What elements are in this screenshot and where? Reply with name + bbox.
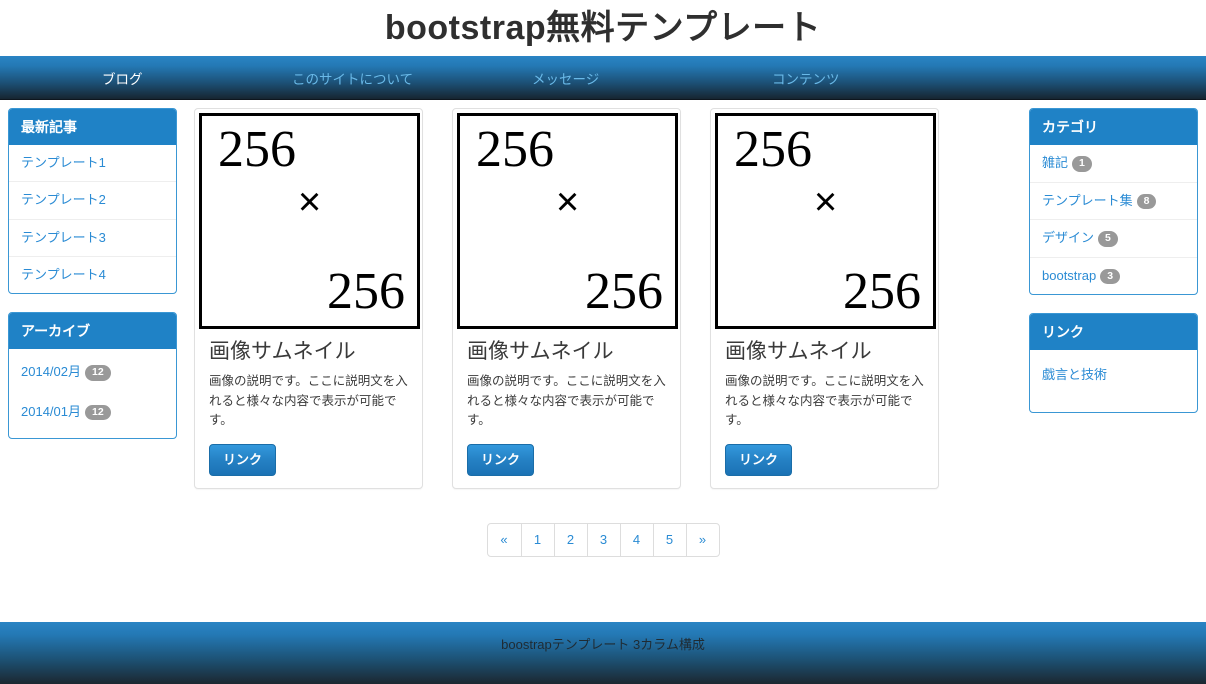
archive-item-2014-01[interactable]: 2014/01月12 [9,393,176,433]
placeholder-width-label: 256 [218,124,296,176]
pagination-page-4[interactable]: 4 [620,524,653,556]
card-title: 画像サムネイル [725,339,924,364]
panel-recent-posts: 最新記事 テンプレート1 テンプレート2 テンプレート3 テンプレート4 [8,108,177,294]
placeholder-height-label: 256 [327,266,405,318]
pagination: « 1 2 3 4 5 » [487,523,720,557]
nav-item-blog[interactable]: ブログ [98,72,147,87]
sidebar-item-template3[interactable]: テンプレート3 [9,219,176,256]
pagination-page-1[interactable]: 1 [521,524,554,556]
links-list: 戯言と技術 [1030,350,1197,411]
sidebar-item-template4[interactable]: テンプレート4 [9,256,176,293]
category-item-templates[interactable]: テンプレート集8 [1030,182,1197,220]
archive-item-2014-02[interactable]: 2014/02月12 [9,353,176,393]
panel-archive: アーカイブ 2014/02月12 2014/01月12 [8,312,177,439]
placeholder-image: 256 × 256 [715,113,936,329]
category-item-zakki[interactable]: 雑記1 [1030,145,1197,182]
card-body: 画像サムネイル 画像の説明です。ここに説明文を入れると様々な内容で表示が可能です… [457,329,676,478]
nav-item-about[interactable]: このサイトについて [288,72,417,87]
archive-item-badge: 12 [85,365,111,381]
pagination-page-2[interactable]: 2 [554,524,587,556]
pagination-next[interactable]: » [686,524,719,556]
multiply-icon: × [202,180,417,225]
content-column: 256 × 256 画像サムネイル 画像の説明です。ここに説明文を入れると様々な… [177,108,1029,557]
pagination-page-3[interactable]: 3 [587,524,620,556]
archive-item-label: 2014/01月 [21,404,81,419]
nav-slot-about: このサイトについて [288,68,528,89]
placeholder-image: 256 × 256 [199,113,420,329]
card-title: 画像サムネイル [467,339,666,364]
card-link-button[interactable]: リンク [209,444,276,476]
thumbnail-card[interactable]: 256 × 256 画像サムネイル 画像の説明です。ここに説明文を入れると様々な… [194,108,423,489]
card-body: 画像サムネイル 画像の説明です。ここに説明文を入れると様々な内容で表示が可能です… [715,329,934,478]
panel-archive-title: アーカイブ [9,313,176,349]
thumbnail-card[interactable]: 256 × 256 画像サムネイル 画像の説明です。ここに説明文を入れると様々な… [710,108,939,489]
panel-category: カテゴリ 雑記1 テンプレート集8 デザイン5 bootstrap3 [1029,108,1198,295]
card-description: 画像の説明です。ここに説明文を入れると様々な内容で表示が可能です。 [209,372,408,430]
thumbnail-card[interactable]: 256 × 256 画像サムネイル 画像の説明です。ここに説明文を入れると様々な… [452,108,681,489]
site-footer: boostrapテンプレート 3カラム構成 [0,622,1206,684]
multiply-icon: × [460,180,675,225]
nav-slot-contents: コンテンツ [768,68,844,89]
archive-item-label: 2014/02月 [21,364,81,379]
page-title: bootstrap無料テンプレート [385,11,821,45]
left-sidebar: 最新記事 テンプレート1 テンプレート2 テンプレート3 テンプレート4 アーカ… [8,108,177,457]
card-link-button[interactable]: リンク [725,444,792,476]
pagination-prev[interactable]: « [488,524,521,556]
category-item-design[interactable]: デザイン5 [1030,219,1197,257]
placeholder-width-label: 256 [734,124,812,176]
card-body: 画像サムネイル 画像の説明です。ここに説明文を入れると様々な内容で表示が可能です… [199,329,418,478]
pagination-wrapper: « 1 2 3 4 5 » [194,523,1012,557]
card-title: 画像サムネイル [209,339,408,364]
navbar-items: ブログ このサイトについて メッセージ コンテンツ [98,68,1108,89]
sidebar-item-template2[interactable]: テンプレート2 [9,181,176,218]
main-container: 最新記事 テンプレート1 テンプレート2 テンプレート3 テンプレート4 アーカ… [0,100,1206,557]
nav-slot-blog: ブログ [98,68,288,89]
page-root: bootstrap無料テンプレート ブログ このサイトについて メッセージ コン… [0,0,1206,684]
main-navbar: ブログ このサイトについて メッセージ コンテンツ [0,56,1206,100]
card-list: 256 × 256 画像サムネイル 画像の説明です。ここに説明文を入れると様々な… [194,108,1012,489]
panel-links-title: リンク [1030,314,1197,350]
category-item-bootstrap[interactable]: bootstrap3 [1030,257,1197,295]
placeholder-height-label: 256 [843,266,921,318]
nav-slot-message: メッセージ [528,68,768,89]
category-item-badge: 3 [1100,269,1120,285]
placeholder-height-label: 256 [585,266,663,318]
category-item-badge: 5 [1098,231,1118,247]
nav-item-message[interactable]: メッセージ [528,72,603,87]
multiply-icon: × [718,180,933,225]
pagination-page-5[interactable]: 5 [653,524,686,556]
category-item-badge: 8 [1137,194,1157,210]
placeholder-width-label: 256 [476,124,554,176]
category-item-badge: 1 [1072,156,1092,172]
category-item-label: デザイン [1042,230,1094,245]
category-item-label: bootstrap [1042,268,1096,283]
card-link-button[interactable]: リンク [467,444,534,476]
panel-recent-posts-title: 最新記事 [9,109,176,145]
nav-item-contents[interactable]: コンテンツ [768,72,844,87]
sidebar-item-template1[interactable]: テンプレート1 [9,145,176,181]
card-description: 画像の説明です。ここに説明文を入れると様々な内容で表示が可能です。 [725,372,924,430]
archive-list: 2014/02月12 2014/01月12 [9,349,176,438]
panel-category-title: カテゴリ [1030,109,1197,145]
right-sidebar: カテゴリ 雑記1 テンプレート集8 デザイン5 bootstrap3 リンク 戯… [1029,108,1198,431]
category-item-label: テンプレート集 [1042,193,1133,208]
card-description: 画像の説明です。ここに説明文を入れると様々な内容で表示が可能です。 [467,372,666,430]
archive-item-badge: 12 [85,405,111,421]
placeholder-image: 256 × 256 [457,113,678,329]
category-item-label: 雑記 [1042,155,1068,170]
site-header: bootstrap無料テンプレート [0,0,1206,56]
footer-text: boostrapテンプレート 3カラム構成 [501,634,705,653]
panel-links: リンク 戯言と技術 [1029,313,1198,412]
link-item-zaregoto[interactable]: 戯言と技術 [1030,356,1197,395]
